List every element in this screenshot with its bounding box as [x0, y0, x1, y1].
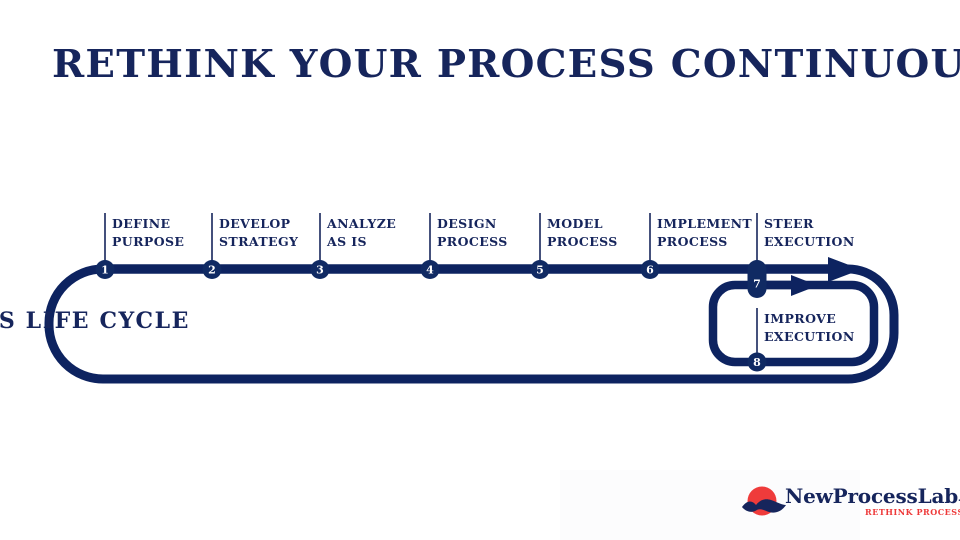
step-label-6-line2: PROCESS — [657, 233, 752, 251]
step-label-1: DEFINE PURPOSE — [112, 215, 184, 251]
logo-wave-circle-icon — [741, 485, 787, 519]
step-number-7: 7 — [753, 278, 761, 291]
logo-word-new: New — [785, 484, 833, 508]
step-label-3-line1: ANALYZE — [327, 216, 396, 231]
step-label-4-line1: DESIGN — [437, 216, 497, 231]
step-label-6: IMPLEMENT PROCESS — [657, 215, 752, 251]
step-label-3-line2: AS IS — [327, 233, 396, 251]
step-label-2-line1: DEVELOP — [219, 216, 290, 231]
logo-tagline: RETHINK PROCESSES — [865, 507, 960, 517]
step-label-1-line2: PURPOSE — [112, 233, 184, 251]
brand-logo[interactable]: NewProcessLab.com RETHINK PROCESSES — [741, 483, 956, 528]
logo-word-process: Process — [833, 484, 918, 508]
step-number-5: 5 — [536, 264, 544, 277]
step-label-2-line2: STRATEGY — [219, 233, 298, 251]
step-label-5: MODEL PROCESS — [547, 215, 618, 251]
step-label-7-line1: STEER — [764, 216, 814, 231]
process-life-cycle-diagram: 1 2 3 4 5 6 7 8 — [0, 0, 960, 540]
logo-word-lab: Lab — [918, 484, 958, 508]
step-label-3: ANALYZE AS IS — [327, 215, 396, 251]
cycle-caption-text: NEW PROCESS LIFE CYCLE — [0, 308, 190, 334]
step-number-6: 6 — [646, 264, 654, 277]
step-number-1: 1 — [101, 264, 109, 277]
logo-wordmark: NewProcessLab.com — [785, 484, 960, 508]
step-number-2: 2 — [208, 264, 216, 277]
step-label-7-line2: EXECUTION — [764, 233, 855, 251]
step-number-3: 3 — [316, 264, 324, 277]
step-label-4-line2: PROCESS — [437, 233, 508, 251]
step-label-5-line1: MODEL — [547, 216, 603, 231]
step-number-4: 4 — [426, 264, 434, 277]
cycle-caption: NEW PROCESS LIFE CYCLE — [0, 308, 960, 334]
step-label-7: STEER EXECUTION — [764, 215, 855, 251]
step-label-6-line1: IMPLEMENT — [657, 216, 752, 231]
step-number-8: 8 — [753, 356, 761, 369]
step-label-1-line1: DEFINE — [112, 216, 170, 231]
inner-loop-arrowhead — [791, 275, 818, 296]
step-label-5-line2: PROCESS — [547, 233, 618, 251]
step-label-2: DEVELOP STRATEGY — [219, 215, 298, 251]
slide-canvas: RETHINK YOUR PROCESS CONTINUOUSLY — [0, 0, 960, 540]
timeline-arrowhead — [828, 257, 861, 282]
step-label-4: DESIGN PROCESS — [437, 215, 508, 251]
